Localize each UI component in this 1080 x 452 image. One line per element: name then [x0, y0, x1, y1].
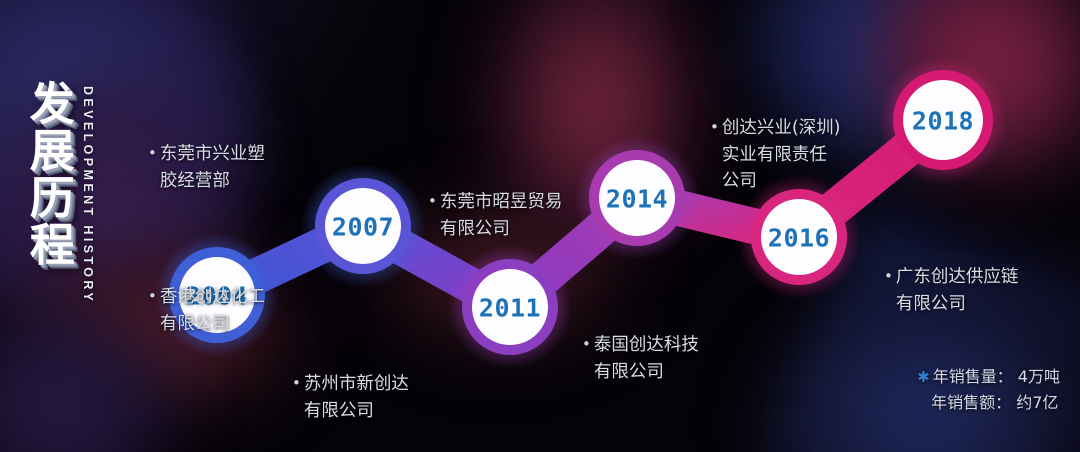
list-item: •东莞市昭昱贸易 有限公司 [428, 163, 618, 243]
note-text-2007: 苏州市新创达 有限公司 [304, 371, 409, 424]
note-text-2018: 广东创达供应链 有限公司 [896, 264, 1019, 317]
note-block-2011: •东莞市昭昱贸易 有限公司 [428, 136, 618, 269]
annual-sales-block: ✱年销售量： 4万吨 年销售额： 约7亿 [917, 364, 1060, 416]
node-2007-shape[interactable] [315, 178, 411, 274]
asterisk-icon: ✱ [917, 368, 930, 386]
note-block-2007: •苏州市新创达 有限公司 [292, 318, 482, 451]
bullet-icon: • [582, 335, 591, 353]
node-2018-shape[interactable] [893, 70, 993, 170]
list-item: •广东创达供应链 有限公司 [884, 238, 1080, 318]
note-text-2016: 创达兴业(深圳) 实业有限责任 公司 [722, 115, 841, 195]
list-item: •创达兴业(深圳) 实业有限责任 公司 [710, 89, 900, 195]
list-item: •苏州市新创达 有限公司 [292, 345, 482, 425]
bullet-icon: • [148, 144, 157, 162]
annual-sales-volume: 年销售量： 4万吨 [933, 367, 1060, 386]
list-item: •泰国创达科技 有限公司 [582, 306, 772, 386]
annual-sales-amount: 年销售额： 约7亿 [931, 393, 1058, 412]
note-block-2016: •创达兴业(深圳) 实业有限责任 公司 [710, 62, 900, 222]
list-item: •东莞市兴业塑 胶经营部 [148, 115, 328, 195]
note-text-2014: 泰国创达科技 有限公司 [594, 332, 699, 385]
bullet-icon: • [428, 192, 437, 210]
annual-sales-volume-row: ✱年销售量： 4万吨 [917, 364, 1060, 390]
note-block-2014: •泰国创达科技 有限公司 [582, 279, 772, 412]
bullet-icon: • [710, 118, 719, 136]
note-text-2011: 东莞市昭昱贸易 有限公司 [440, 189, 563, 242]
note-text-2004-b: 香港创达化工 有限公司 [160, 284, 265, 337]
note-text-2004-a: 东莞市兴业塑 胶经营部 [160, 141, 265, 194]
annual-sales-amount-row: 年销售额： 约7亿 [917, 390, 1060, 416]
bullet-icon: • [884, 267, 893, 285]
bullet-icon: • [292, 374, 301, 392]
note-block-2018: •广东创达供应链 有限公司 [884, 211, 1080, 344]
bullet-icon: • [148, 287, 157, 305]
infographic-canvas: 发展历程 DEVELOPMENT HISTORY [0, 0, 1080, 452]
